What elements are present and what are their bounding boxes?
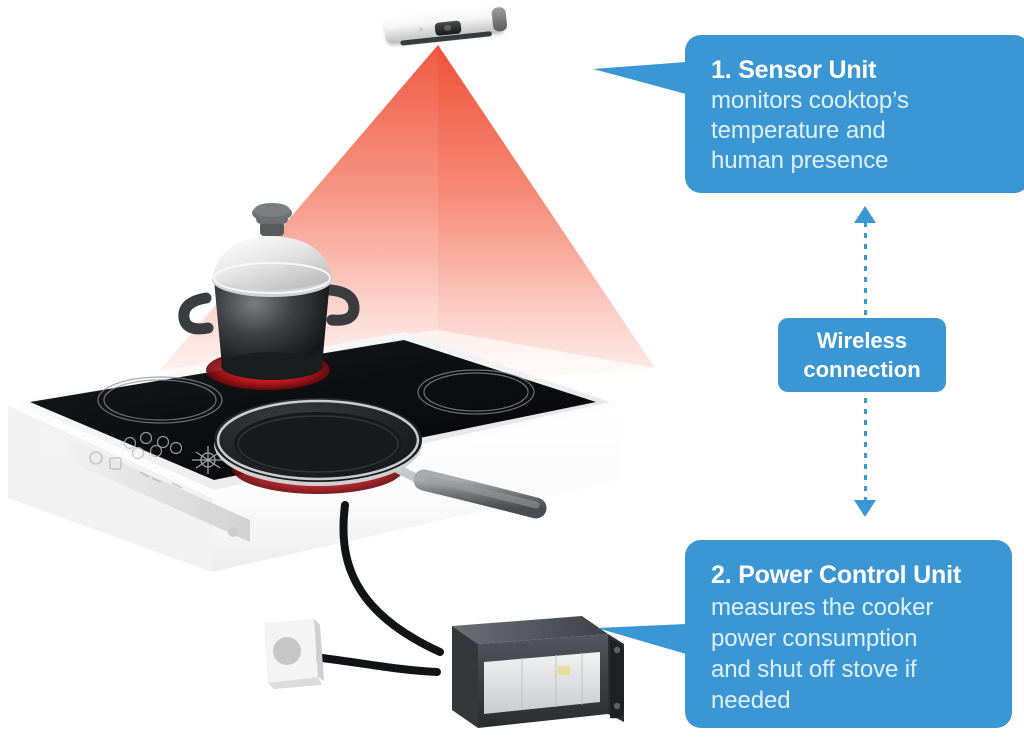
induction-cooktop bbox=[0, 180, 640, 600]
wireless-connection-group: Wireless connection bbox=[760, 200, 970, 540]
callout-power-title: 2. Power Control Unit bbox=[711, 559, 992, 592]
callout-sensor-unit[interactable]: 1. Sensor Unit monitors cooktop’s temper… bbox=[685, 35, 1024, 193]
wireless-connection-badge: Wireless connection bbox=[778, 318, 946, 392]
callout-tail-icon bbox=[597, 624, 686, 654]
callout-power-body-line-1: measures the cooker bbox=[711, 592, 992, 623]
sensor-unit-device bbox=[383, 0, 507, 56]
callout-power-control-unit[interactable]: 2. Power Control Unit measures the cooke… bbox=[685, 540, 1012, 728]
callout-sensor-body-line-1: monitors cooktop’s bbox=[711, 86, 1006, 116]
callout-power-body-line-4: needed bbox=[711, 685, 992, 716]
arrow-down-icon bbox=[854, 500, 876, 517]
callout-sensor-title: 1. Sensor Unit bbox=[711, 54, 1006, 86]
arrow-up-icon bbox=[854, 206, 876, 223]
callout-power-body-line-2: power consumption bbox=[711, 623, 992, 654]
callout-tail-icon bbox=[593, 62, 686, 94]
wireless-label-line2: connection bbox=[803, 355, 920, 384]
callout-power-body-line-3: and shut off stove if bbox=[711, 654, 992, 685]
callout-sensor-body-line-2: temperature and bbox=[711, 116, 1006, 146]
wall-socket bbox=[256, 617, 326, 697]
power-knob-icon bbox=[228, 527, 238, 537]
sensor-end-cap bbox=[491, 7, 507, 32]
wireless-label-line1: Wireless bbox=[817, 326, 907, 355]
callout-sensor-body-line-3: human presence bbox=[711, 146, 1006, 176]
diagram-canvas: Wireless connection 1. Sensor Unit monit… bbox=[0, 0, 1024, 748]
